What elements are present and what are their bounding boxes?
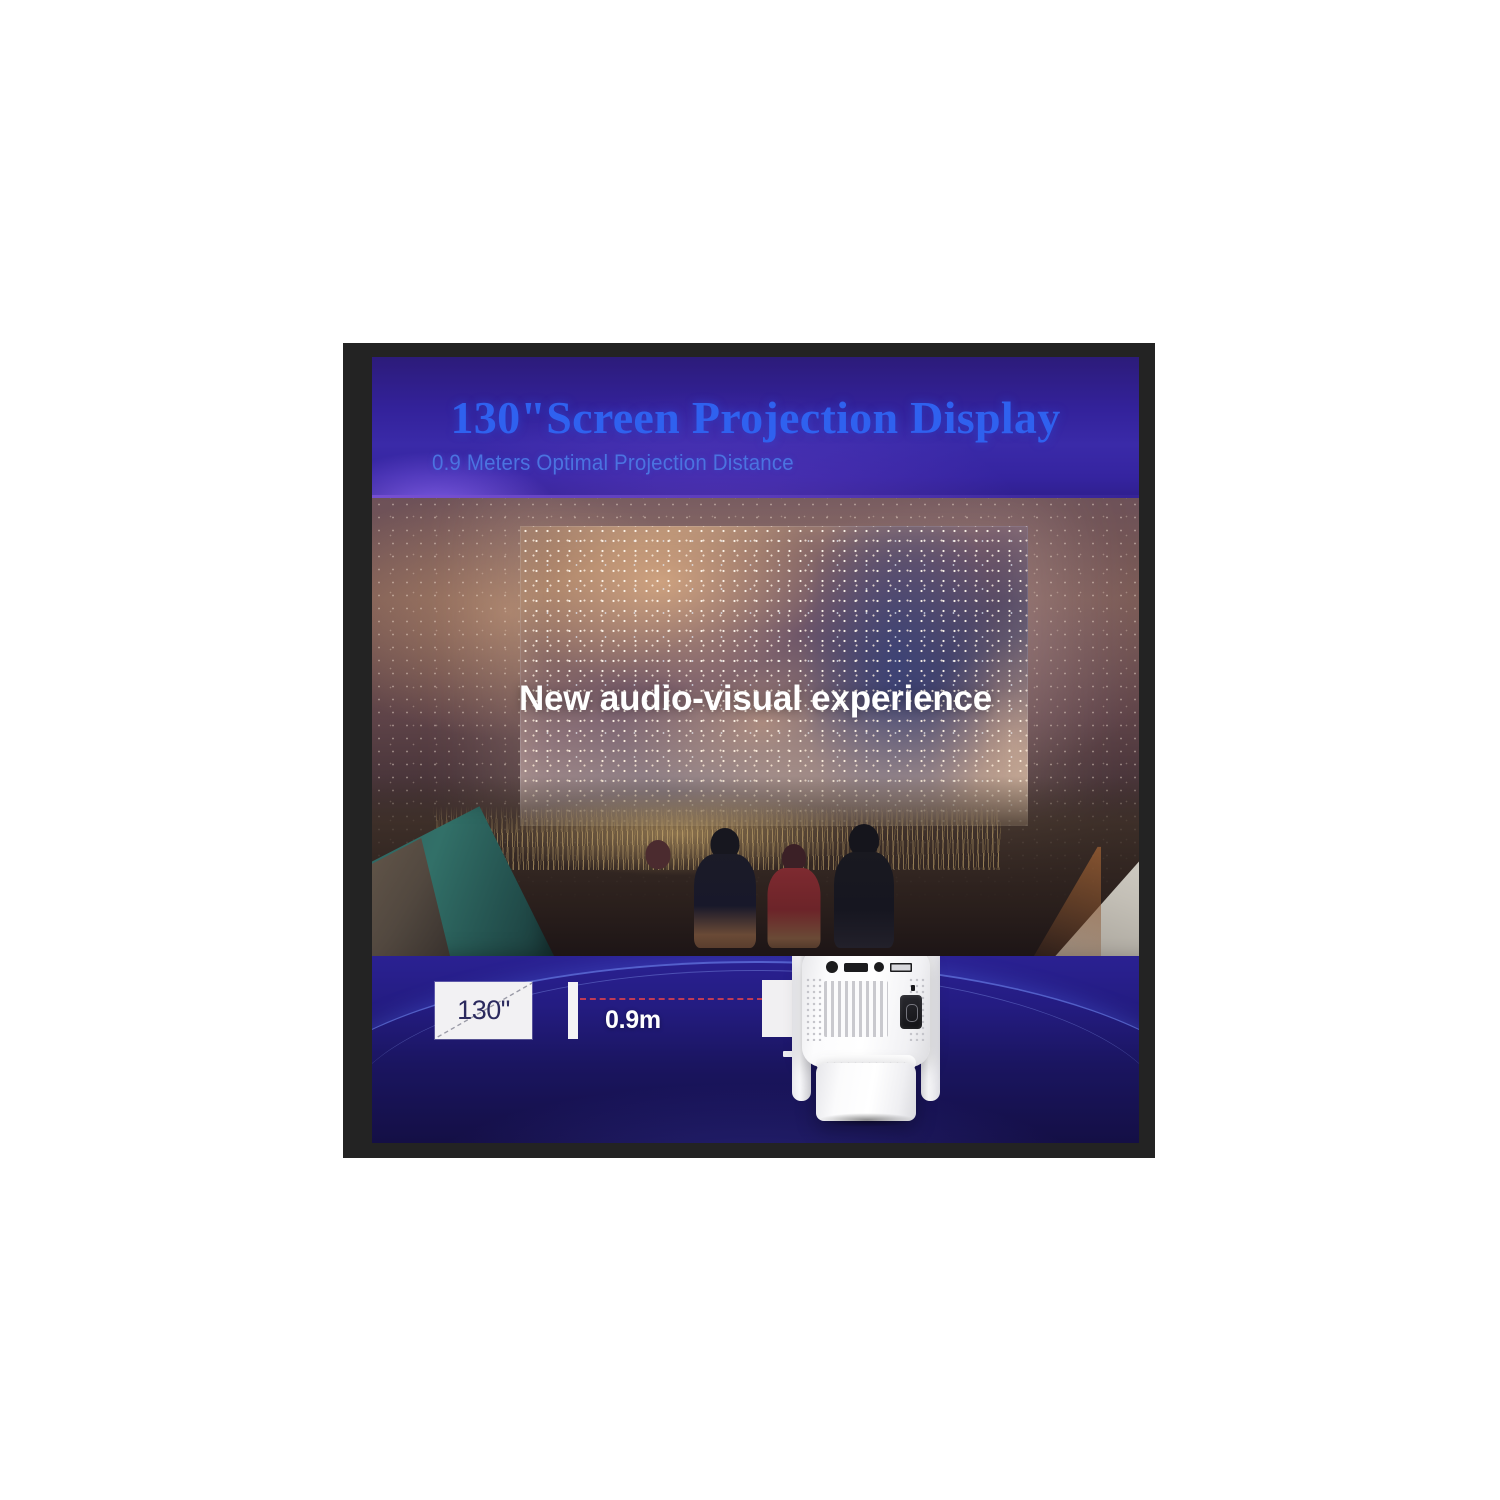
audience-person-2 bbox=[692, 828, 758, 948]
vent-grille bbox=[824, 981, 888, 1037]
screen-size-label: 130" bbox=[435, 982, 532, 1039]
page-subtitle: 0.9 Meters Optimal Projection Distance bbox=[432, 450, 794, 476]
scene-overlay-text: New audio-visual experience bbox=[372, 679, 1139, 719]
dc-power-port-icon bbox=[826, 961, 838, 973]
projector-port-row bbox=[826, 961, 908, 973]
av-jack-port-icon bbox=[874, 962, 884, 972]
person-body bbox=[632, 864, 684, 948]
audience-person-1 bbox=[630, 840, 686, 948]
person-body bbox=[834, 852, 894, 948]
projection-screen-icon bbox=[568, 982, 578, 1039]
banner-content: 130"Screen Projection Display 0.9 Meters… bbox=[372, 357, 1139, 1143]
projector-product-image bbox=[790, 956, 942, 1121]
distance-dashed-line bbox=[580, 998, 763, 1000]
projector-rear-panel bbox=[802, 956, 930, 1067]
audience-person-3 bbox=[766, 844, 822, 948]
status-led-icon bbox=[911, 985, 915, 991]
distance-label: 0.9m bbox=[605, 1006, 661, 1035]
projector-shadow bbox=[818, 1113, 916, 1127]
screen-size-badge: 130" bbox=[435, 982, 532, 1039]
spec-info-panel: 130" 0.9m bbox=[372, 956, 1139, 1143]
hdmi-port-icon bbox=[844, 963, 868, 972]
usb-port-icon bbox=[890, 963, 912, 972]
person-body bbox=[694, 854, 756, 948]
banner-header: 130"Screen Projection Display 0.9 Meters… bbox=[372, 357, 1139, 498]
person-body bbox=[768, 868, 821, 948]
page-title: 130"Screen Projection Display bbox=[372, 391, 1139, 444]
lifestyle-photo: New audio-visual experience bbox=[372, 498, 1139, 956]
vent-dots-left bbox=[805, 977, 823, 1041]
ir-sensor-window-icon bbox=[900, 995, 922, 1029]
audience-person-4 bbox=[832, 824, 896, 948]
product-promo-banner: 130"Screen Projection Display 0.9 Meters… bbox=[343, 343, 1155, 1158]
